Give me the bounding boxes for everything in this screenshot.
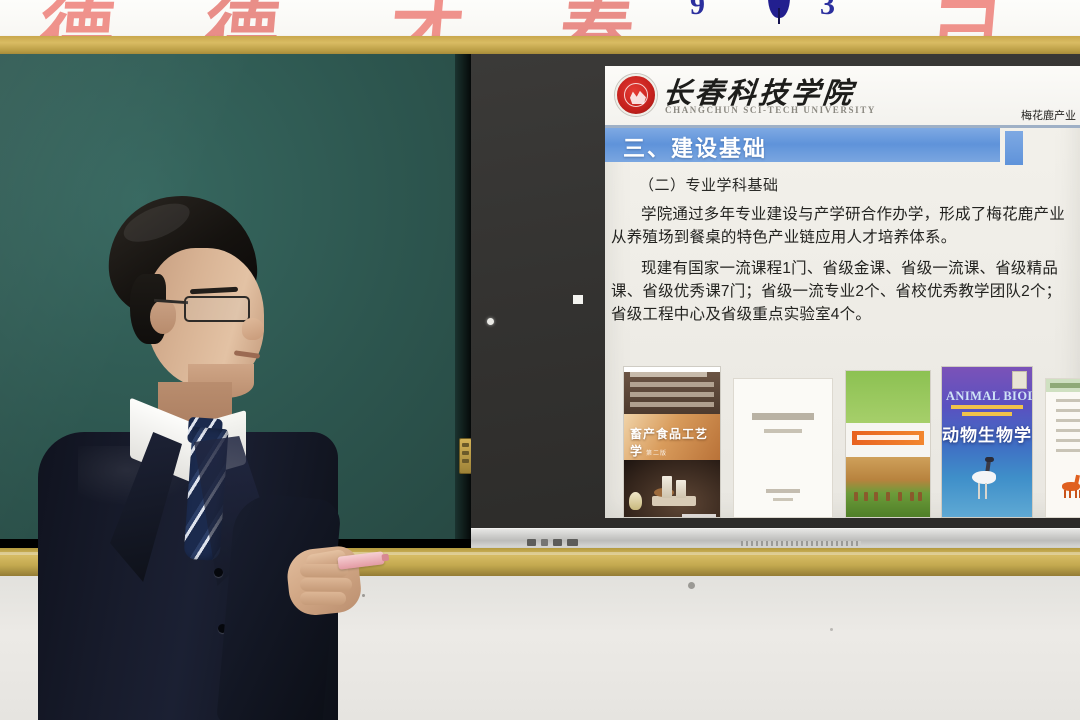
slide-title: 三、建设基础 xyxy=(623,131,767,163)
classroom-scene: 德 德 才 春 己 9 3 长春科技学院 CHANGCHUN SCI-TECH … xyxy=(0,0,1080,720)
source-button-icon[interactable] xyxy=(541,539,548,546)
nose xyxy=(242,318,264,340)
clock-numeral-3: 3 xyxy=(820,0,835,22)
book-1-edition: 第二版 xyxy=(646,448,667,457)
panel-reflection-spot xyxy=(573,295,583,304)
university-name-en: CHANGCHUN SCI-TECH UNIVERSITY xyxy=(665,105,876,115)
eyeglasses-icon xyxy=(184,296,250,322)
slide-book-gallery: 畜产食品工艺学 第二版 xyxy=(605,358,1080,518)
power-button-icon[interactable] xyxy=(527,539,536,546)
book-4-title-cn: 动物生物学 xyxy=(942,421,1032,446)
ear xyxy=(150,300,176,334)
slide-header: 长春科技学院 CHANGCHUN SCI-TECH UNIVERSITY 梅花鹿… xyxy=(605,66,1080,128)
book-cover-4: ANIMAL BIOLOGY 动物生物学 xyxy=(941,366,1033,518)
clock-hand xyxy=(768,0,790,18)
speaker-grille xyxy=(741,541,861,546)
volume-button-icon[interactable] xyxy=(567,539,578,546)
book-cover-3 xyxy=(845,370,931,518)
suit-button xyxy=(214,568,223,577)
presenter xyxy=(38,196,368,720)
menu-button-icon[interactable] xyxy=(553,539,562,546)
book-1-title: 畜产食品工艺学 xyxy=(630,425,720,459)
display-control-buttons[interactable] xyxy=(527,539,578,546)
slide-subheading: （二）专业学科基础 xyxy=(639,174,1080,195)
panel-sensor-dot xyxy=(487,318,494,325)
clock-numeral-9: 9 xyxy=(690,0,705,22)
slide-paragraph-1: 学院通过多年专业建设与产学研合作办学，形成了梅花鹿产业从养殖场到餐桌的特色产业链… xyxy=(611,204,1076,249)
slide-paragraph-2: 现建有国家一流课程1门、省级金课、省级一流课、省级精品课、省级优秀课7门；省级一… xyxy=(611,258,1076,326)
slide-topic-corner: 梅花鹿产业 xyxy=(1021,107,1076,123)
book-cover-2 xyxy=(733,378,833,518)
slide-title-band: 三、建设基础 xyxy=(605,128,1000,162)
book-4-title-en: ANIMAL BIOLOGY xyxy=(946,389,1030,404)
university-logo-icon xyxy=(615,74,657,116)
presentation-slide: 长春科技学院 CHANGCHUN SCI-TECH UNIVERSITY 梅花鹿… xyxy=(605,66,1080,518)
book-cover-5 xyxy=(1045,378,1080,518)
slide-title-accent-block xyxy=(1005,131,1023,165)
book-cover-1: 畜产食品工艺学 第二版 xyxy=(623,366,721,518)
